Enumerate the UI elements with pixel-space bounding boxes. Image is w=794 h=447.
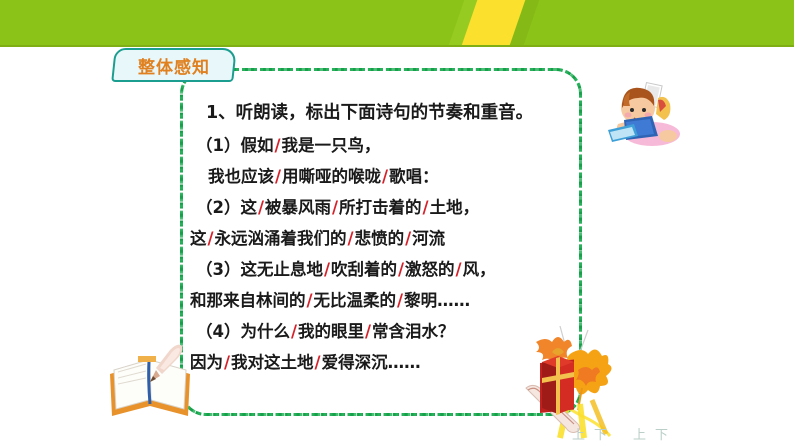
nav-group-2[interactable]: 上 下 xyxy=(633,424,668,443)
poem-text-segment: 爱得深沉…… xyxy=(322,353,421,372)
instruction-line: 1、听朗读，标出下面诗句的节奏和重音。 xyxy=(190,96,578,130)
rhythm-slash-mark: / xyxy=(323,260,331,279)
poem-text-segment: 风， xyxy=(463,260,496,279)
footer-navigation[interactable]: 上 下 上 下 xyxy=(572,424,668,443)
rhythm-slash-mark: / xyxy=(396,291,404,310)
poem-text-segment: 我也应该 xyxy=(208,167,274,186)
poem-text-segment: 被暴风雨 xyxy=(265,198,331,217)
rhythm-slash-mark: / xyxy=(274,167,282,186)
nav-next-2[interactable]: 下 xyxy=(655,424,668,443)
poem-text-segment: 常含泪水？ xyxy=(372,322,455,341)
rhythm-slash-mark: / xyxy=(273,136,281,155)
poem-text-segment: 无比温柔的 xyxy=(314,291,397,310)
nav-group-1[interactable]: 上 下 xyxy=(572,424,607,443)
rhythm-slash-mark: / xyxy=(314,353,322,372)
poem-line: （3）这无止息地/吹刮着的/激怒的/风， xyxy=(190,254,578,285)
poem-text-segment: （4）为什么 xyxy=(196,322,290,341)
poem-text-segment: 黎明…… xyxy=(404,291,470,310)
rhythm-slash-mark: / xyxy=(422,198,430,217)
poem-text-segment: 永远汹涌着我们的 xyxy=(215,229,347,248)
poem-text-segment: （2）这 xyxy=(196,198,257,217)
kid-reading-illustration xyxy=(600,74,684,150)
poem-text-segment: （3）这无止息地 xyxy=(196,260,323,279)
rhythm-slash-mark: / xyxy=(404,229,412,248)
header-bottom-edge xyxy=(0,45,794,47)
poem-text-segment: 我的眼里 xyxy=(298,322,364,341)
poem-text-segment: 悲愤的 xyxy=(355,229,405,248)
nav-prev-2[interactable]: 上 xyxy=(633,424,646,443)
poem-text-segment: 激怒的 xyxy=(405,260,455,279)
nav-prev-1[interactable]: 上 xyxy=(572,424,585,443)
poem-text-segment: 我对这土地 xyxy=(231,353,314,372)
poem-line: （2）这/被暴风雨/所打击着的/土地， xyxy=(190,192,578,223)
rhythm-slash-mark: / xyxy=(331,198,339,217)
poem-text-segment: 我是一只鸟， xyxy=(282,136,381,155)
rhythm-slash-mark: / xyxy=(207,229,215,248)
poem-text-segment: 和那来自林间的 xyxy=(190,291,306,310)
rhythm-slash-mark: / xyxy=(397,260,405,279)
poem-text-segment: （1）假如 xyxy=(196,136,273,155)
poem-text-segment: 土地， xyxy=(430,198,480,217)
poem-text-segment: 因为 xyxy=(190,353,223,372)
poem-text-segment: 这 xyxy=(190,229,207,248)
poem-text-segment: 吹刮着的 xyxy=(331,260,397,279)
rhythm-slash-mark: / xyxy=(347,229,355,248)
rhythm-slash-mark: / xyxy=(455,260,463,279)
maple-leaves-gift-illustration xyxy=(512,318,620,440)
rhythm-slash-mark: / xyxy=(257,198,265,217)
open-book-quill-illustration xyxy=(104,330,194,418)
poem-line: 和那来自林间的/无比温柔的/黎明…… xyxy=(190,285,578,316)
rhythm-slash-mark: / xyxy=(223,353,231,372)
poem-text-segment: 歌唱： xyxy=(389,167,439,186)
poem-line: 我也应该/用嘶哑的喉咙/歌唱： xyxy=(190,161,578,192)
header-band xyxy=(0,0,794,47)
nav-next-1[interactable]: 下 xyxy=(594,424,607,443)
poem-line: （1）假如/我是一只鸟， xyxy=(190,130,578,161)
poem-text-segment: 河流 xyxy=(412,229,445,248)
poem-text-segment: 所打击着的 xyxy=(339,198,422,217)
rhythm-slash-mark: / xyxy=(306,291,314,310)
poem-text-segment: 用嘶哑的喉咙 xyxy=(282,167,381,186)
rhythm-slash-mark: / xyxy=(381,167,389,186)
poem-line: 这/永远汹涌着我们的/悲愤的/河流 xyxy=(190,223,578,254)
section-tab-label: 整体感知 xyxy=(113,48,235,82)
rhythm-slash-mark: / xyxy=(290,322,298,341)
rhythm-slash-mark: / xyxy=(364,322,372,341)
